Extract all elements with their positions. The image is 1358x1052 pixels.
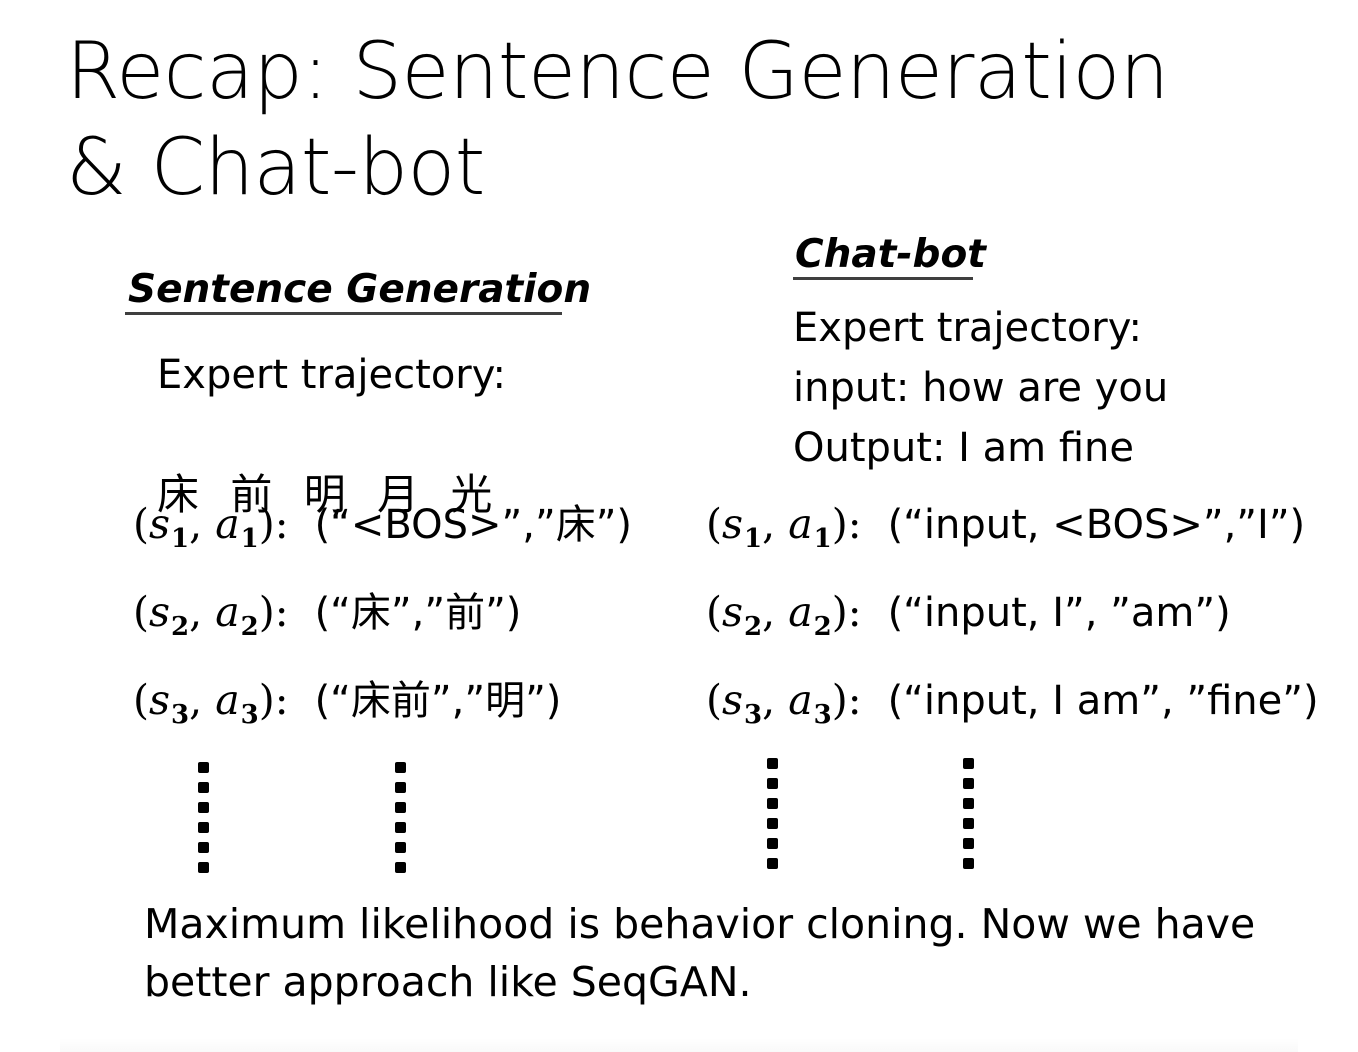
state-action-value: (“input, I”, ”am”): [888, 589, 1231, 637]
state-subscript: 3: [743, 700, 762, 730]
paren-open: (: [133, 676, 149, 724]
label-comma: ,: [189, 500, 215, 548]
state-action-value: (“床前”,”明”): [315, 677, 562, 725]
table-row: (s3, a3): (“input, I am”, ”fine”): [706, 676, 1319, 725]
state-subscript: 1: [170, 524, 189, 554]
action-symbol: a: [788, 676, 812, 724]
table-row: (s1, a1): (“input, <BOS>”,”I”): [706, 500, 1305, 549]
state-action-label: (s1, a1):: [706, 500, 862, 548]
table-row: (s2, a2): (“input, I”, ”am”): [706, 588, 1231, 637]
state-action-value: (“input, <BOS>”,”I”): [888, 501, 1306, 549]
state-action-label: (s2, a2):: [133, 588, 289, 636]
paren-close-colon: ):: [259, 676, 289, 724]
footnote-text: Maximum likelihood is behavior cloning. …: [144, 895, 1264, 1011]
left-expert-trajectory-label: Expert trajectory:: [157, 352, 506, 398]
state-symbol: s: [149, 676, 170, 724]
left-expert-trajectory-block: Expert trajectory: 床 前 明 月 光: [157, 345, 506, 526]
state-symbol: s: [149, 588, 170, 636]
state-symbol: s: [722, 676, 743, 724]
action-subscript: 2: [240, 612, 259, 642]
paren-open: (: [706, 500, 722, 548]
state-symbol: s: [149, 500, 170, 548]
state-subscript: 2: [170, 612, 189, 642]
label-comma: ,: [762, 588, 788, 636]
slide-canvas: Recap: Sentence Generation & Chat-bot Se…: [0, 0, 1358, 1052]
paren-open: (: [706, 588, 722, 636]
action-symbol: a: [788, 588, 812, 636]
table-row: (s3, a3): (“床前”,”明”): [133, 676, 561, 725]
paren-open: (: [133, 588, 149, 636]
section-heading-chat-bot-underline: [793, 277, 973, 280]
label-comma: ,: [762, 500, 788, 548]
vertical-ellipsis-icon: [197, 762, 209, 873]
right-expert-trajectory-block: Expert trajectory: input: how are you Ou…: [793, 298, 1168, 478]
section-heading-sentence-generation: Sentence Generation: [128, 268, 591, 312]
state-action-label: (s1, a1):: [133, 500, 289, 548]
action-symbol: a: [215, 500, 239, 548]
state-action-label: (s3, a3):: [133, 676, 289, 724]
paren-close-colon: ):: [832, 588, 862, 636]
vertical-ellipsis-icon: [394, 762, 406, 873]
section-heading-chat-bot: Chat-bot: [795, 233, 986, 277]
action-symbol: a: [215, 588, 239, 636]
label-comma: ,: [189, 588, 215, 636]
slide-bottom-edge: [60, 1038, 1298, 1052]
state-action-value: (“床”,”前”): [315, 589, 522, 637]
section-heading-sentence-generation-underline: [125, 312, 562, 315]
state-action-value: (“input, I am”, ”fine”): [888, 677, 1319, 725]
paren-close-colon: ):: [259, 588, 289, 636]
state-subscript: 2: [743, 612, 762, 642]
paren-close-colon: ):: [832, 676, 862, 724]
state-action-value: (“<BOS>”,”床”): [315, 501, 632, 549]
action-subscript: 2: [813, 612, 832, 642]
vertical-ellipsis-icon: [962, 758, 974, 869]
action-symbol: a: [788, 500, 812, 548]
action-subscript: 3: [813, 700, 832, 730]
paren-open: (: [706, 676, 722, 724]
label-comma: ,: [189, 676, 215, 724]
paren-open: (: [133, 500, 149, 548]
state-symbol: s: [722, 588, 743, 636]
state-symbol: s: [722, 500, 743, 548]
table-row: (s2, a2): (“床”,”前”): [133, 588, 521, 637]
page-title: Recap: Sentence Generation & Chat-bot: [66, 24, 1186, 216]
state-subscript: 3: [170, 700, 189, 730]
paren-close-colon: ):: [832, 500, 862, 548]
state-action-label: (s2, a2):: [706, 588, 862, 636]
paren-close-colon: ):: [259, 500, 289, 548]
action-subscript: 1: [240, 524, 259, 554]
vertical-ellipsis-icon: [766, 758, 778, 869]
state-subscript: 1: [743, 524, 762, 554]
action-symbol: a: [215, 676, 239, 724]
action-subscript: 3: [240, 700, 259, 730]
table-row: (s1, a1): (“<BOS>”,”床”): [133, 500, 632, 549]
state-action-label: (s3, a3):: [706, 676, 862, 724]
label-comma: ,: [762, 676, 788, 724]
action-subscript: 1: [813, 524, 832, 554]
